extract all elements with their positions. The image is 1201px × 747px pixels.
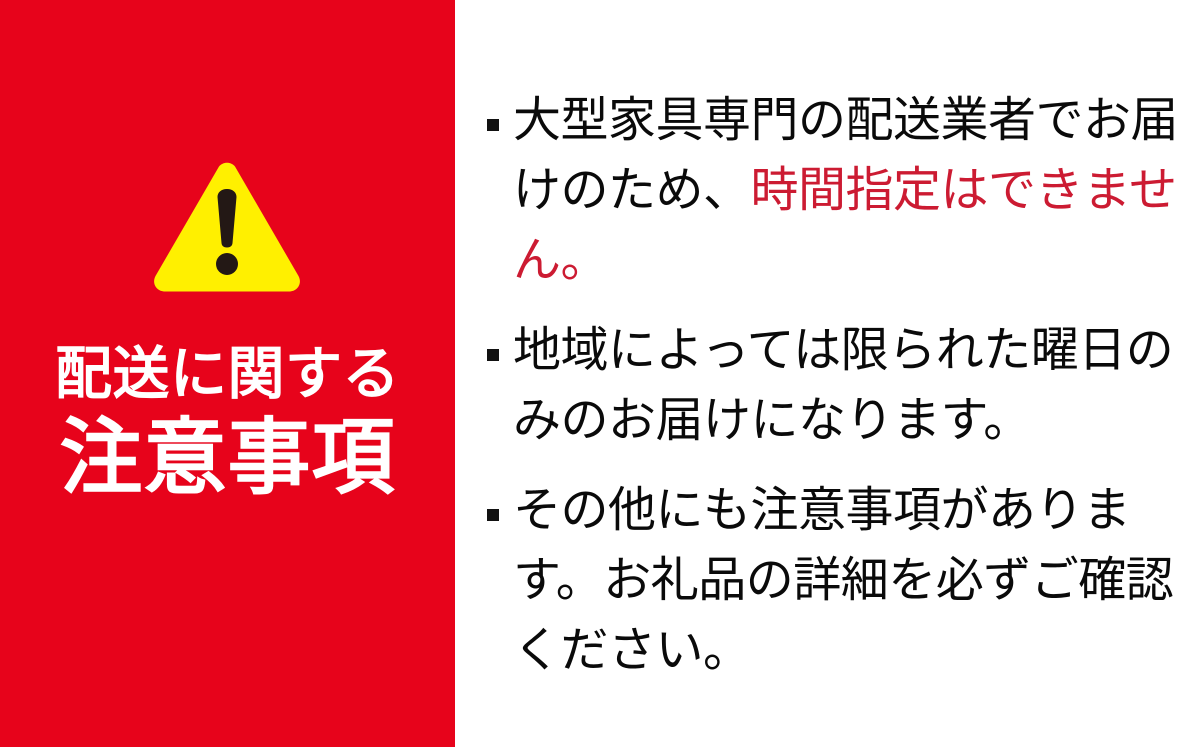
note-text-lead: その他にも注意事項があります。お礼品の詳細を必ずご確認ください。 xyxy=(513,484,1173,677)
bullet-square-icon xyxy=(487,509,499,521)
notes-list: 大型家具専門の配送業者でお届けのため、時間指定はできません。 地域によっては限ら… xyxy=(487,86,1187,686)
list-item: その他にも注意事項があります。お礼品の詳細を必ずご確認ください。 xyxy=(487,476,1187,686)
page-title-line-1: 配送に関する xyxy=(0,337,455,411)
delivery-notice-banner: 配送に関する 注意事項 大型家具専門の配送業者でお届けのため、時間指定はできませ… xyxy=(0,0,1201,747)
note-text: 地域によっては限られた曜日のみのお届けになります。 xyxy=(513,316,1187,456)
list-item: 大型家具専門の配送業者でお届けのため、時間指定はできません。 xyxy=(487,86,1187,296)
bullet-square-icon xyxy=(487,119,499,131)
bullet-square-icon xyxy=(487,349,499,361)
note-text-lead: 地域によっては限られた曜日のみのお届けになります。 xyxy=(513,324,1173,447)
list-item: 地域によっては限られた曜日のみのお届けになります。 xyxy=(487,316,1187,456)
warning-triangle-icon xyxy=(152,161,302,293)
notice-header-panel: 配送に関する 注意事項 xyxy=(0,0,455,747)
page-title-line-2: 注意事項 xyxy=(0,411,455,505)
note-text: その他にも注意事項があります。お礼品の詳細を必ずご確認ください。 xyxy=(513,476,1187,686)
note-text: 大型家具専門の配送業者でお届けのため、時間指定はできません。 xyxy=(513,86,1187,296)
notice-details-panel: 大型家具専門の配送業者でお届けのため、時間指定はできません。 地域によっては限ら… xyxy=(455,0,1201,747)
page-title: 配送に関する 注意事項 xyxy=(0,337,455,505)
